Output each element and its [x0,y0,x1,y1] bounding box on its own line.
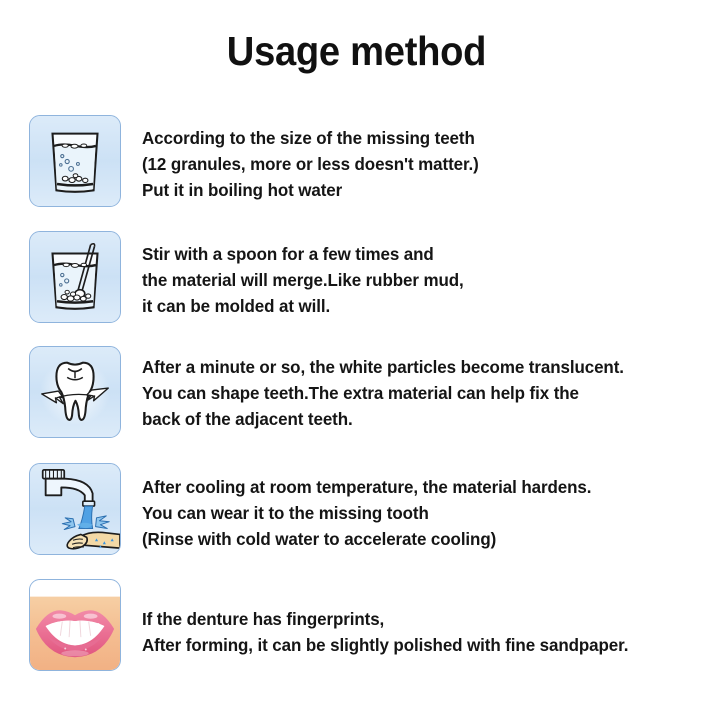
step-4-illustration [29,463,121,555]
step-5-line-2: After forming, it can be slightly polish… [142,632,693,658]
step-5-line-1: If the denture has fingerprints, [142,606,693,632]
step-3-line-2: You can shape teeth.The extra material c… [142,380,693,406]
shining-molar-tooth-icon [30,347,120,437]
page-title: Usage method [25,28,688,75]
faucet-washing-hands-icon [30,464,120,554]
step-2-line-2: the material will merge.Like rubber mud, [142,267,693,293]
list-item: After a minute or so, the white particle… [0,342,713,459]
step-1-line-1: According to the size of the missing tee… [142,125,693,151]
step-2-line-3: it can be molded at will. [142,293,693,319]
step-2-illustration [29,231,121,323]
usage-method-infographic: Usage method [0,0,713,713]
list-item: If the denture has fingerprints, After f… [0,576,713,693]
steps-list: According to the size of the missing tee… [0,108,713,693]
step-1-line-3: Put it in boiling hot water [142,177,693,203]
step-4-line-1: After cooling at room temperature, the m… [142,474,693,500]
list-item: According to the size of the missing tee… [0,108,713,225]
step-3-illustration [29,346,121,438]
step-1-line-2: (12 granules, more or less doesn't matte… [142,151,693,177]
list-item: Stir with a spoon for a few times and th… [0,225,713,342]
step-5-text: If the denture has fingerprints, After f… [142,606,693,658]
step-1-text: According to the size of the missing tee… [142,125,693,204]
step-4-line-3: (Rinse with cold water to accelerate coo… [142,526,693,552]
step-3-line-3: back of the adjacent teeth. [142,406,693,432]
list-item: After cooling at room temperature, the m… [0,459,713,576]
step-4-line-2: You can wear it to the missing tooth [142,500,693,526]
step-3-text: After a minute or so, the white particle… [142,354,693,433]
step-5-illustration [29,579,121,671]
step-4-text: After cooling at room temperature, the m… [142,474,693,553]
step-1-illustration [29,115,121,207]
step-3-line-1: After a minute or so, the white particle… [142,354,693,380]
step-2-text: Stir with a spoon for a few times and th… [142,241,693,320]
glass-with-stirring-spoon-icon [30,232,120,322]
step-2-line-1: Stir with a spoon for a few times and [142,241,693,267]
smiling-mouth-with-teeth-icon [30,580,120,670]
glass-of-water-with-granules-icon [30,116,120,206]
